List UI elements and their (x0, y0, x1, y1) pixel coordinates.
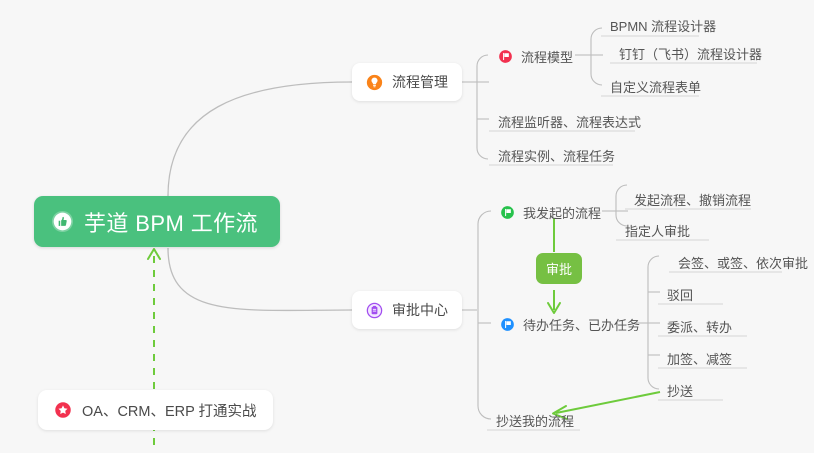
label-add-remove-sign: 加签、减签 (667, 349, 732, 368)
edge-root-to-process-management (168, 82, 352, 196)
bracket-process-management (477, 55, 488, 159)
node-assignee-approval[interactable]: 指定人审批 (616, 217, 699, 245)
node-delegate-transfer[interactable]: 委派、转办 (658, 313, 741, 341)
node-cc-to-me[interactable]: 抄送我的流程 (487, 407, 583, 435)
label-custom-process-form: 自定义流程表单 (610, 77, 701, 96)
thumbs-up-icon (51, 210, 74, 233)
branch-node-approval-center[interactable]: 审批中心 (352, 291, 462, 329)
lightbulb-icon (366, 74, 383, 91)
branch-label-approval-center: 审批中心 (392, 300, 448, 320)
label-cc-to-me: 抄送我的流程 (496, 411, 574, 430)
node-todo-done-tasks[interactable]: 待办任务、已办任务 (491, 311, 649, 339)
label-instance-task: 流程实例、流程任务 (498, 146, 615, 165)
label-listener-expression: 流程监听器、流程表达式 (498, 112, 641, 131)
node-my-initiated[interactable]: 我发起的流程 (491, 199, 610, 227)
node-instance-task[interactable]: 流程实例、流程任务 (489, 142, 624, 170)
label-start-cancel-process: 发起流程、撤销流程 (634, 190, 751, 209)
label-cc: 抄送 (667, 381, 693, 400)
clipboard-icon (366, 302, 383, 319)
label-assignee-approval: 指定人审批 (625, 221, 690, 240)
flow-tag-approval-label: 审批 (546, 262, 572, 277)
edge-root-to-approval-center (168, 248, 352, 310)
flag-green-icon (500, 205, 515, 220)
label-reject: 驳回 (667, 285, 693, 304)
label-delegate-transfer: 委派、转办 (667, 317, 732, 336)
note-label: OA、CRM、ERP 打通实战 (82, 400, 257, 421)
node-start-cancel-process[interactable]: 发起流程、撤销流程 (625, 186, 760, 214)
branch-node-process-management[interactable]: 流程管理 (352, 63, 462, 101)
node-bpmn-designer[interactable]: BPMN 流程设计器 (601, 12, 725, 40)
node-add-remove-sign[interactable]: 加签、减签 (658, 345, 741, 373)
root-node-label: 芋道 BPM 工作流 (84, 206, 258, 238)
flow-tag-approval[interactable]: 审批 (536, 253, 582, 284)
node-cc[interactable]: 抄送 (658, 377, 702, 405)
note-node-integration[interactable]: OA、CRM、ERP 打通实战 (38, 390, 273, 430)
flag-red-icon (498, 49, 513, 64)
label-process-model: 流程模型 (521, 47, 573, 66)
flag-blue-icon (500, 317, 515, 332)
star-icon (54, 401, 72, 419)
node-process-model[interactable]: 流程模型 (489, 43, 582, 71)
node-listener-expression[interactable]: 流程监听器、流程表达式 (489, 108, 650, 136)
branch-label-process-management: 流程管理 (392, 72, 448, 92)
bracket-approval-center (478, 211, 491, 419)
node-reject[interactable]: 驳回 (658, 281, 702, 309)
node-custom-process-form[interactable]: 自定义流程表单 (601, 73, 710, 101)
label-bpmn-designer: BPMN 流程设计器 (610, 16, 716, 35)
label-todo-done-tasks: 待办任务、已办任务 (523, 315, 640, 334)
root-node[interactable]: 芋道 BPM 工作流 (34, 196, 280, 247)
mindmap-canvas: 芋道 BPM 工作流 流程管理 审批中心 (0, 0, 814, 453)
note-to-root-arrow-head (148, 249, 160, 259)
node-dingtalk-feishu-designer[interactable]: 钉钉（飞书）流程设计器 (610, 40, 771, 68)
label-multi-approval-modes: 会签、或签、依次审批 (678, 253, 808, 272)
label-my-initiated: 我发起的流程 (523, 203, 601, 222)
node-multi-approval-modes[interactable]: 会签、或签、依次审批 (669, 249, 814, 277)
label-dingtalk-feishu-designer: 钉钉（飞书）流程设计器 (619, 44, 762, 63)
